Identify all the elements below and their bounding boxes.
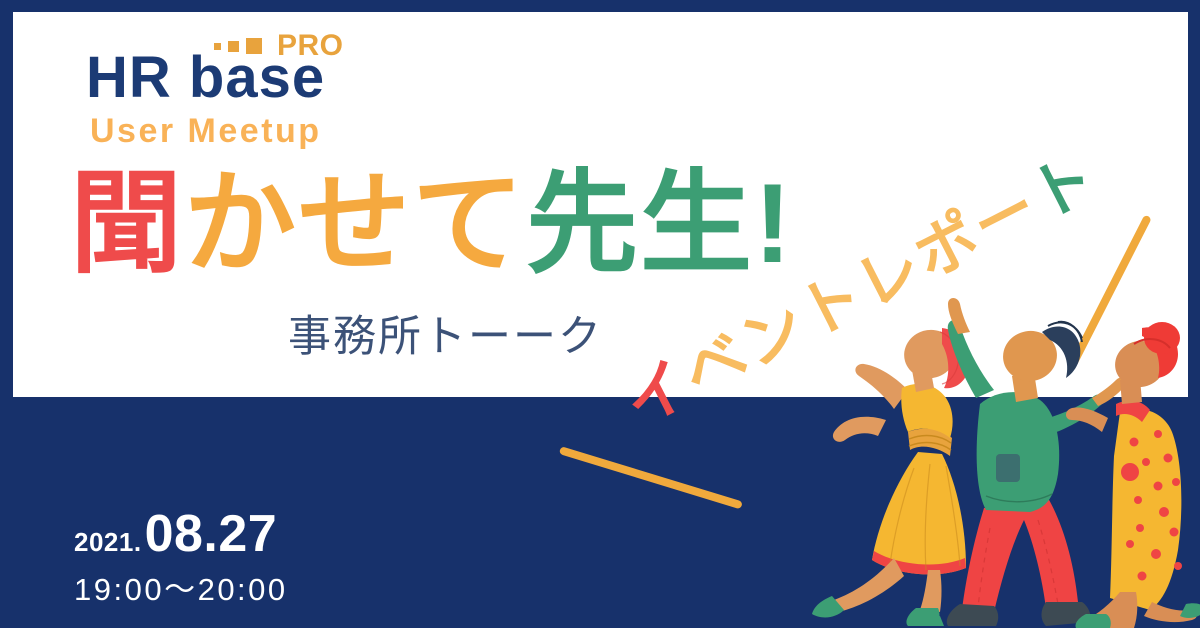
- dancer-left-woman: [812, 324, 970, 626]
- dancer-right-woman: [1066, 322, 1200, 628]
- dancer-center-man: [947, 298, 1126, 626]
- event-month-day: 08.27: [145, 508, 278, 560]
- slash-left-decoration: [559, 446, 743, 509]
- page-title: 聞かせて先生!: [70, 165, 793, 283]
- event-date-row: 2021. 08.27: [74, 508, 288, 560]
- headline-segment-3: 先生!: [526, 161, 793, 286]
- event-time-range: 19:00〜20:00: [74, 574, 288, 605]
- page-subtitle: 事務所トーーク: [288, 316, 603, 359]
- event-banner: PRO HR base User Meetup 聞かせて先生! 事務所トーーク …: [0, 0, 1200, 628]
- logo-sub-label: User Meetup: [90, 114, 322, 148]
- logo-main-label: HR base: [86, 48, 325, 109]
- hrbase-logo: PRO HR base User Meetup: [86, 22, 506, 147]
- three-dancing-people-illustration: [790, 292, 1200, 628]
- event-datetime: 2021. 08.27 19:00〜20:00: [74, 508, 288, 605]
- event-year: 2021.: [74, 529, 142, 555]
- headline-segment-1: 聞: [70, 161, 184, 286]
- headline-segment-2: かせて: [184, 161, 526, 286]
